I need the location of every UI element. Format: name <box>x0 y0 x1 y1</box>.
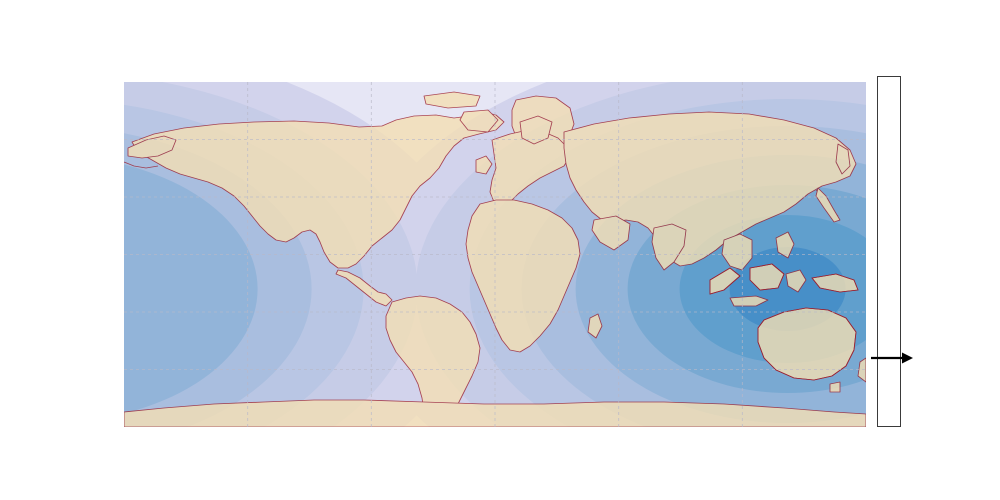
world-map[interactable] <box>124 82 866 427</box>
figure-root <box>0 0 1000 500</box>
colorbar-title <box>913 76 943 427</box>
land-tasmania <box>830 382 840 392</box>
map-canvas <box>124 82 866 427</box>
colorbar-max-marker <box>870 340 916 366</box>
max-arrow-icon <box>870 350 914 366</box>
colorbar[interactable] <box>877 76 901 427</box>
